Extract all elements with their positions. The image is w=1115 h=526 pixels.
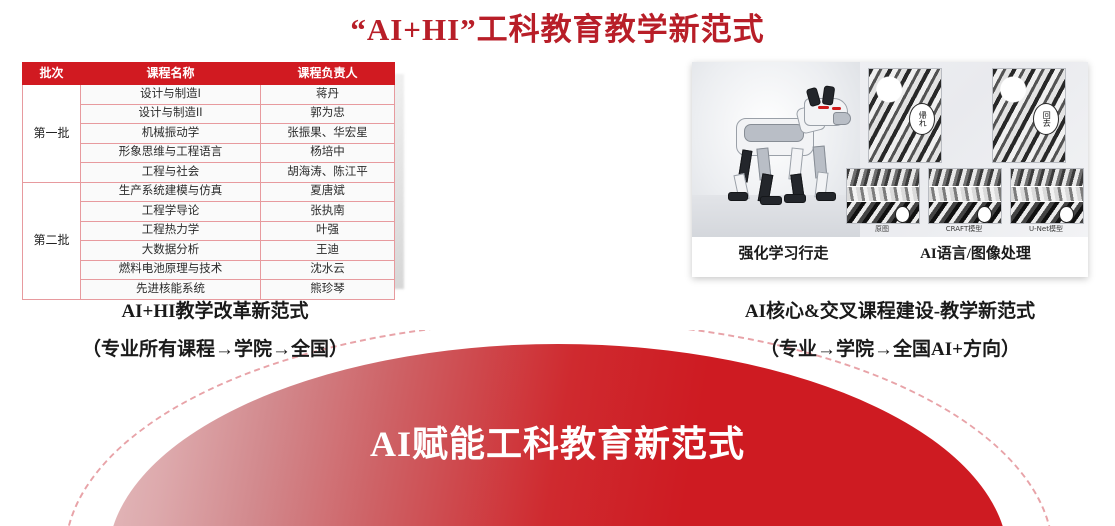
course-cell: 设计与制造II	[81, 104, 261, 124]
media-panel: 帰れ 回去 原图 CRAFT模型 U-Net模型 强化学习行走 AI语言/	[692, 62, 1088, 277]
thumb-bubble	[977, 206, 992, 223]
thumb-label-craft: CRAFT模型	[928, 224, 1000, 234]
table-row: 第二批 生产系统建模与仿真 夏唐斌	[23, 182, 395, 202]
media-caption-right: AI语言/图像处理	[868, 242, 1083, 263]
right-caption-line2: （专业→学院→全国AI+方向）	[680, 334, 1100, 361]
robot-muzzle	[833, 112, 851, 125]
speech-bubble-chinese: 回去	[1033, 103, 1059, 135]
lead-cell: 叶强	[261, 221, 395, 241]
robot-foot-rear-left	[728, 192, 748, 201]
course-cell: 机械振动学	[81, 124, 261, 144]
table-header-lead: 课程负责人	[261, 63, 395, 85]
course-cell: 工程与社会	[81, 163, 261, 183]
thumb-strip	[847, 187, 919, 201]
thumb-bubble	[1059, 206, 1074, 223]
manga-thumb-craft	[928, 168, 1002, 224]
thumb-strip	[1011, 169, 1083, 186]
course-cell: 生产系统建模与仿真	[81, 182, 261, 202]
course-cell: 形象思维与工程语言	[81, 143, 261, 163]
lead-cell: 张执南	[261, 202, 395, 222]
lead-cell: 郭为忠	[261, 104, 395, 124]
table-header-row: 批次 课程名称 课程负责人	[23, 63, 395, 85]
robot-eye-right	[832, 107, 841, 110]
thumb-strip	[929, 169, 1001, 186]
robot-dog-image	[692, 62, 860, 237]
thumb-label-original: 原图	[846, 224, 918, 234]
table-row: 第一批 设计与制造I 蒋丹	[23, 85, 395, 105]
lead-cell: 沈水云	[261, 260, 395, 280]
manga-thumb-original	[846, 168, 920, 224]
course-cell: 燃料电池原理与技术	[81, 260, 261, 280]
course-cell: 工程学导论	[81, 202, 261, 222]
course-table-block: 批次 课程名称 课程负责人 第一批 设计与制造I 蒋丹 设计与制造II 郭为忠 …	[22, 62, 394, 300]
speech-bubble-japanese: 帰れ	[909, 103, 935, 135]
manga-panel-translated: 回去	[992, 68, 1066, 163]
table-header-course: 课程名称	[81, 63, 261, 85]
robot-foot-front-right	[816, 192, 836, 201]
media-images-area: 帰れ 回去	[692, 62, 1088, 237]
robot-foot-rear-right	[760, 196, 782, 205]
lead-cell: 杨培中	[261, 143, 395, 163]
lead-cell: 王迪	[261, 241, 395, 261]
left-caption-line1: AI+HI教学改革新范式	[0, 296, 430, 323]
banner-title: AI赋能工科教育新范式	[0, 415, 1115, 467]
course-cell: 大数据分析	[81, 241, 261, 261]
lead-cell: 夏唐斌	[261, 182, 395, 202]
thumb-strip	[929, 187, 1001, 201]
left-caption-line2: （专业所有课程→学院→全国）	[0, 334, 430, 361]
manga-panel-original: 帰れ	[868, 68, 942, 163]
course-table: 批次 课程名称 课程负责人 第一批 设计与制造I 蒋丹 设计与制造II 郭为忠 …	[22, 62, 395, 300]
thumb-strip	[1011, 187, 1083, 201]
batch-cell: 第二批	[23, 182, 81, 299]
batch-cell: 第一批	[23, 85, 81, 183]
right-caption-line1: AI核心&交叉课程建设-教学新范式	[680, 296, 1100, 323]
page-title: “AI+HI”工科教育教学新范式	[0, 4, 1115, 49]
robot-foot-front-left	[784, 194, 806, 203]
media-caption-left: 强化学习行走	[706, 242, 861, 263]
table-header-batch: 批次	[23, 63, 81, 85]
robot-eye-left	[818, 106, 829, 109]
lead-cell: 张振果、华宏星	[261, 124, 395, 144]
course-cell: 工程热力学	[81, 221, 261, 241]
lead-cell: 蒋丹	[261, 85, 395, 105]
manga-thumb-unet	[1010, 168, 1084, 224]
thumb-bubble	[895, 206, 910, 223]
lead-cell: 胡海涛、陈江平	[261, 163, 395, 183]
robot-body-panel	[744, 124, 804, 142]
course-cell: 设计与制造I	[81, 85, 261, 105]
thumb-label-unet: U-Net模型	[1010, 224, 1082, 234]
thumb-strip	[847, 169, 919, 186]
